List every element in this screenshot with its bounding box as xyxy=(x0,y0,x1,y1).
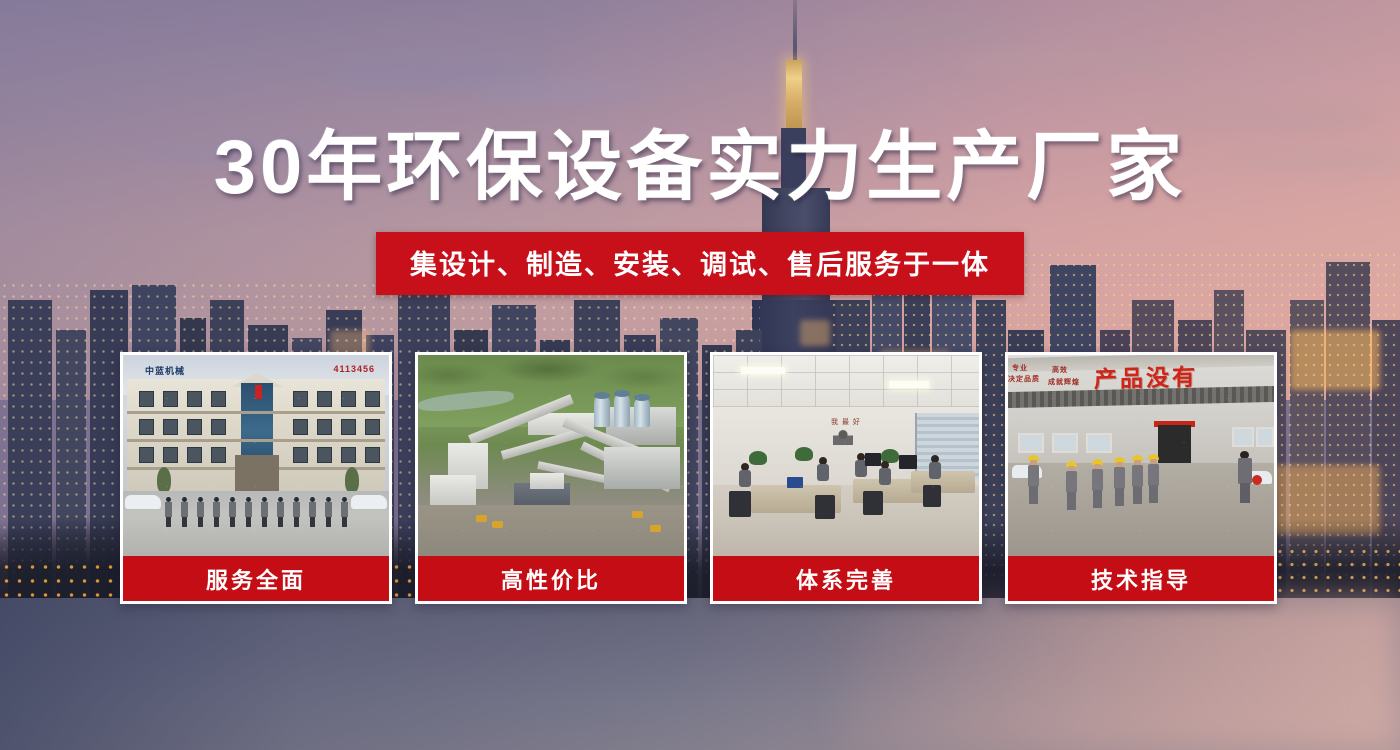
slogan-text-3: 高效 xyxy=(1052,365,1068,375)
building-sign-text: 中蓝机械 xyxy=(145,364,185,377)
promo-banner: 30年环保设备实力生产厂家 集设计、制造、安装、调试、售后服务于一体 中蓝机械 … xyxy=(0,0,1400,750)
water-reflection xyxy=(840,600,1400,750)
feature-card[interactable]: 高性价比 xyxy=(415,352,687,604)
card-photo xyxy=(418,355,684,559)
tower-crown-lights xyxy=(786,60,802,132)
wall-art: 我 最 好 xyxy=(821,417,863,449)
feature-card-list: 中蓝机械 4113456 xyxy=(120,352,1280,604)
red-helmet xyxy=(1252,475,1262,485)
slogan-text-2: 决定品质 xyxy=(1008,374,1040,384)
building-phone-text: 4113456 xyxy=(333,364,375,374)
page-title: 30年环保设备实力生产厂家 xyxy=(0,130,1400,206)
card-caption: 服务全面 xyxy=(123,556,389,601)
card-photo: 产品没有 专业 决定品质 高效 成就辉煌 xyxy=(1008,355,1274,559)
feature-card[interactable]: 产品没有 专业 决定品质 高效 成就辉煌 xyxy=(1005,352,1277,604)
subtitle-container: 集设计、制造、安装、调试、售后服务于一体 xyxy=(0,232,1400,295)
slogan-text-4: 成就辉煌 xyxy=(1048,377,1080,387)
feature-card[interactable]: 我 最 好 xyxy=(710,352,982,604)
subtitle-ribbon: 集设计、制造、安装、调试、售后服务于一体 xyxy=(376,232,1024,295)
building-glow xyxy=(800,320,830,346)
feature-card[interactable]: 中蓝机械 4113456 xyxy=(120,352,392,604)
wall-slogan-text: 我 最 好 xyxy=(831,417,861,427)
card-caption: 技术指导 xyxy=(1008,556,1274,601)
slogan-text-1: 专业 xyxy=(1012,363,1028,373)
card-caption: 体系完善 xyxy=(713,556,979,601)
card-photo: 中蓝机械 4113456 xyxy=(123,355,389,559)
card-photo: 我 最 好 xyxy=(713,355,979,559)
card-caption: 高性价比 xyxy=(418,556,684,601)
